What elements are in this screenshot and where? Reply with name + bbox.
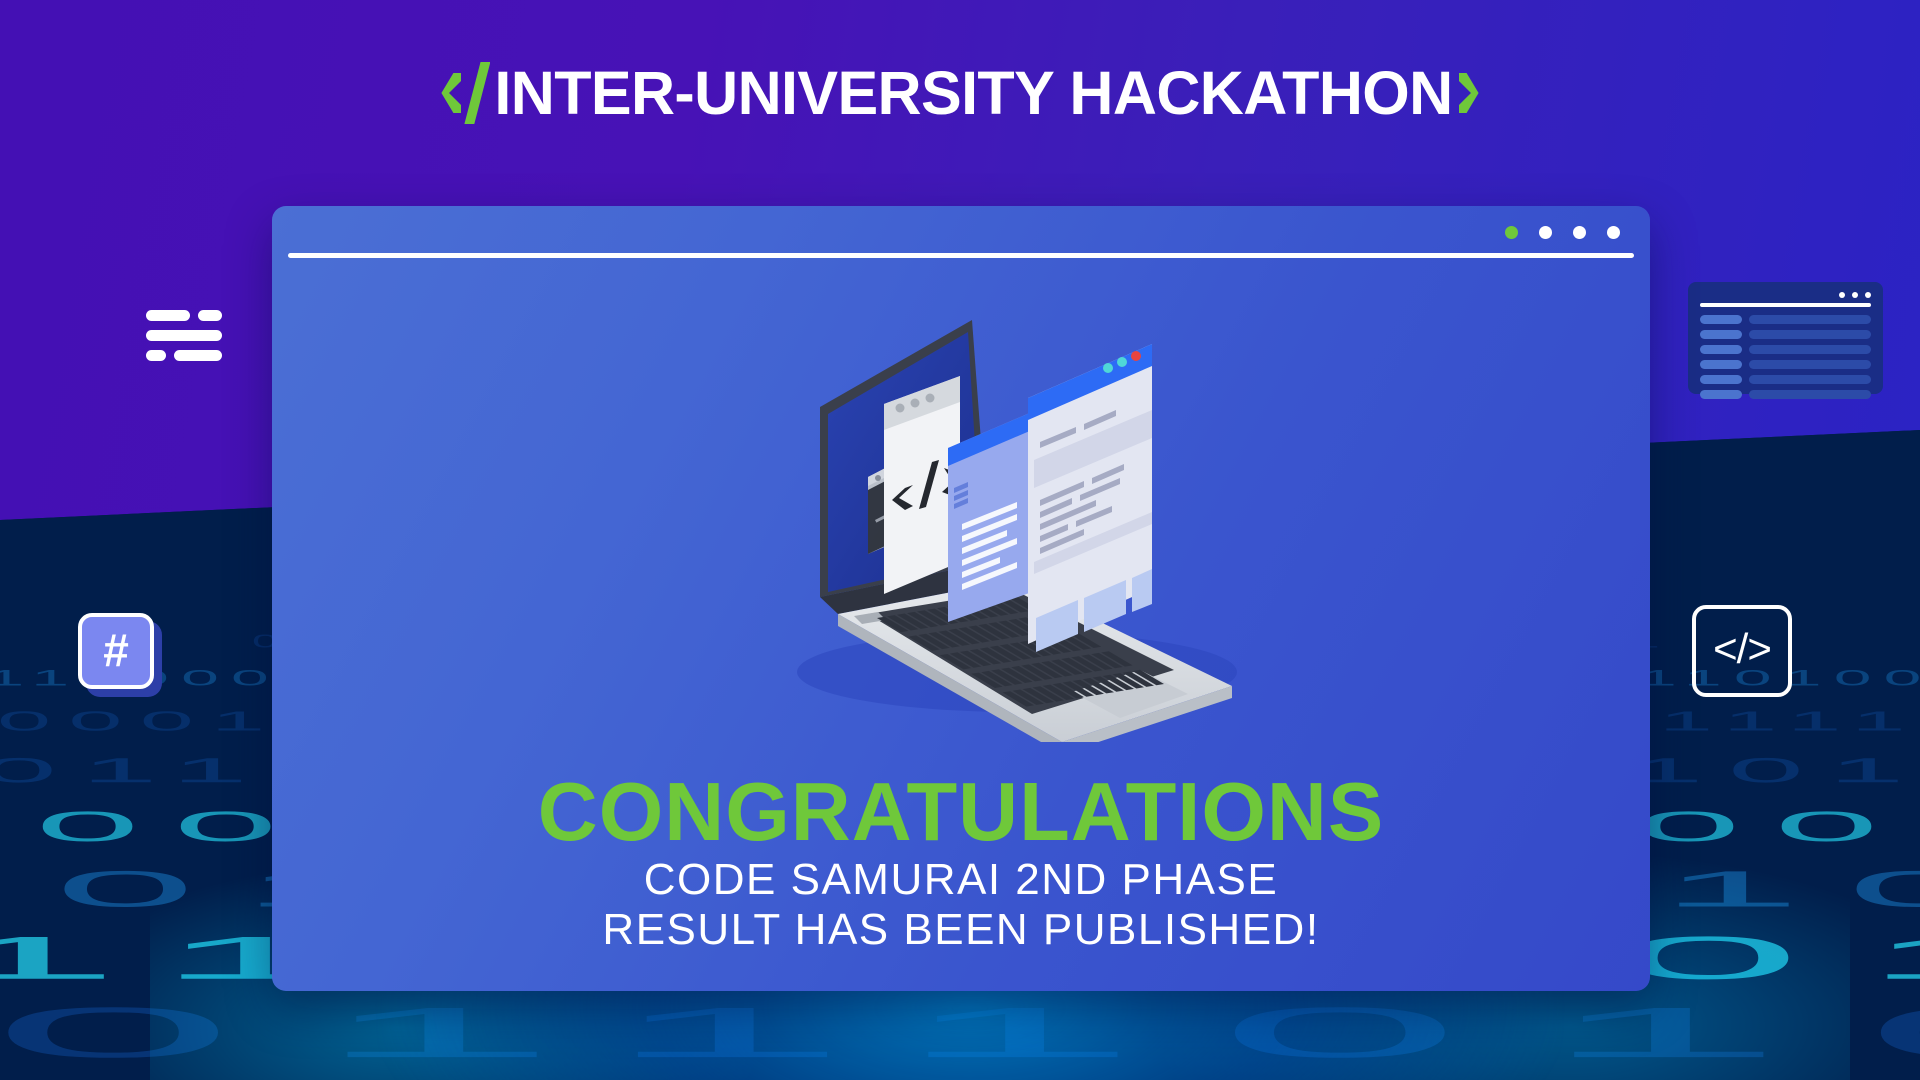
menu-lines-icon <box>146 310 222 361</box>
code-window-icon <box>1688 282 1883 394</box>
window-dot <box>1839 292 1845 298</box>
card-dot-3 <box>1607 226 1620 239</box>
chevron-right-icon <box>1459 73 1479 113</box>
window-dot <box>1865 292 1871 298</box>
page-title: INTER-UNIVERSITY HACKATHON <box>0 62 1920 124</box>
card-dot-2 <box>1573 226 1586 239</box>
isometric-laptop-illustration <box>272 262 1650 742</box>
subtitle-line-1: CODE SAMURAI 2ND PHASE <box>272 855 1650 905</box>
hash-icon: # <box>78 613 154 689</box>
code-brackets-glyph: </> <box>1713 628 1771 670</box>
card-dot-1 <box>1539 226 1552 239</box>
card-divider <box>288 253 1634 258</box>
hash-glyph: # <box>103 627 129 673</box>
card-window-dots <box>1505 226 1620 239</box>
slash-icon <box>464 62 490 124</box>
chevron-left-icon <box>441 73 461 113</box>
card-dot-green <box>1505 226 1518 239</box>
code-brackets-icon: </> <box>1692 605 1792 697</box>
card-headline-block: CONGRATULATIONS CODE SAMURAI 2ND PHASE R… <box>272 770 1650 955</box>
announcement-card: CONGRATULATIONS CODE SAMURAI 2ND PHASE R… <box>272 206 1650 991</box>
poster-stage: 0000100100111011110110110111001111010100… <box>0 0 1920 1080</box>
window-rule <box>1700 303 1871 307</box>
page-title-text: INTER-UNIVERSITY HACKATHON <box>494 63 1452 124</box>
congratulations-heading: CONGRATULATIONS <box>272 770 1650 855</box>
subtitle-line-2: RESULT HAS BEEN PUBLISHED! <box>272 905 1650 955</box>
window-dot <box>1852 292 1858 298</box>
